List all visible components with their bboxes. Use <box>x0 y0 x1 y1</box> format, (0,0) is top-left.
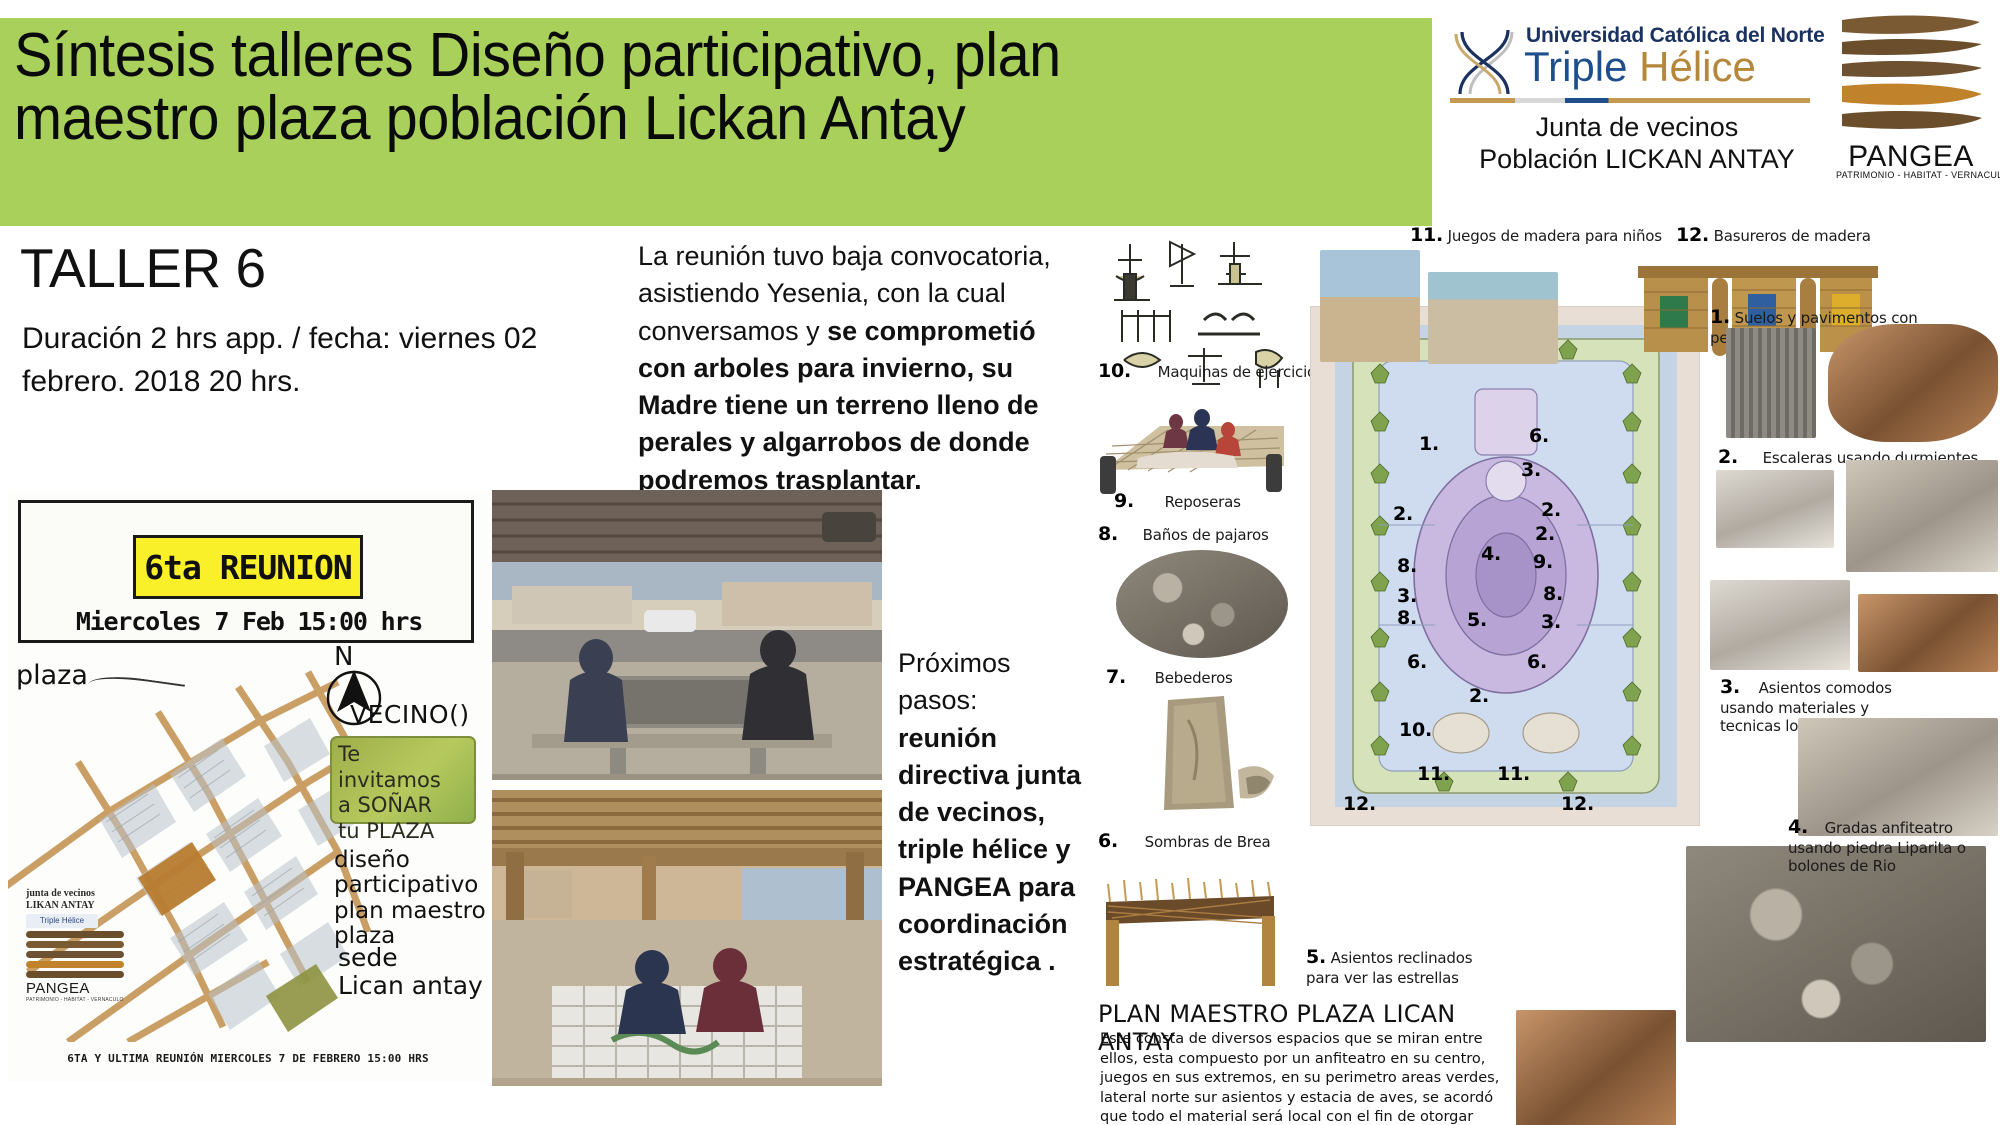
flyer-label-north: N <box>334 642 353 672</box>
flyer-pangea-bar-1 <box>26 931 124 938</box>
flyer-logo-junta-line-1: junta de vecinos <box>26 888 124 900</box>
montage-item-3-number: 3. <box>1720 676 1740 698</box>
flyer-invitation-box: Te invitamos a SOÑAR tu PLAZA <box>330 736 476 824</box>
montage-item-1-number: 1. <box>1710 306 1730 328</box>
sombra-brea-photo <box>1098 874 1288 990</box>
flyer-logo-pangea: PANGEA <box>26 980 124 997</box>
slide-root: Síntesis talleres Diseño participativo, … <box>0 0 2000 1125</box>
photo-workshop-ramada-plan <box>492 790 882 1086</box>
junta-vecinos-block: Junta de vecinos Población LICKAN ANTAY <box>1442 112 1832 176</box>
plan-number-6c: 6. <box>1527 651 1547 674</box>
plan-number-4: 4. <box>1481 543 1501 566</box>
workshop-title: TALLER 6 <box>20 236 266 300</box>
flyer-sede-line-1: sede <box>338 944 483 972</box>
pangea-wordmark: PANGEA <box>1836 140 1986 174</box>
ucn-word-triple: Triple <box>1524 43 1639 90</box>
plan-number-3b: 3. <box>1397 585 1417 608</box>
flyer-project-label: diseño participativo plan maestro plaza <box>334 848 486 949</box>
pangea-strata-icon <box>1836 12 1986 142</box>
montage-item-11: 11. Juegos de madera para niños <box>1410 224 1662 247</box>
montage-item-5-text: Asientos reclinados para ver las estrell… <box>1306 949 1472 987</box>
bird-bath-photo <box>1116 550 1288 658</box>
montage-item-7: 7. Bebederos <box>1106 666 1233 689</box>
flyer-invite-line-2: a SOÑAR <box>338 793 468 819</box>
montage-item-12-text: Basureros de madera <box>1714 227 1871 245</box>
slide-title-line-1: Síntesis talleres Diseño participativo, … <box>14 24 1320 87</box>
flyer-label-vecino-text: VECINO <box>350 700 449 729</box>
flyer-pangea-bar-5 <box>26 971 124 978</box>
plan-number-6a: 6. <box>1529 425 1549 448</box>
helix-icon <box>1450 24 1520 98</box>
flyer-logo-stack: junta de vecinos LIKAN ANTAY Triple Héli… <box>26 888 124 1003</box>
montage-item-9-number: 9. <box>1114 490 1134 512</box>
plan-number-10: 10. <box>1399 719 1432 742</box>
plan-number-8b: 8. <box>1543 583 1563 606</box>
plan-number-5: 5. <box>1467 609 1487 632</box>
flyer-pangea-bar-2 <box>26 941 124 948</box>
montage-item-8-number: 8. <box>1098 523 1118 545</box>
flyer-logo-pangea-sub: PATRIMONIO - HABITAT - VERNACULO <box>26 997 124 1003</box>
pangea-tagline: PATRIMONIO - HABITAT - VERNACULO <box>1836 170 1986 180</box>
next-steps-label: Próximos pasos: <box>898 648 1011 715</box>
montage-item-7-number: 7. <box>1106 666 1126 688</box>
montage-item-6: 6. Sombras de Brea <box>1098 830 1270 853</box>
montage-item-11-number: 11. <box>1410 224 1443 246</box>
muro-bolones-photo <box>1686 846 1986 1042</box>
exercise-machines-icons <box>1108 234 1308 346</box>
plan-number-2: 2. <box>1535 523 1555 546</box>
pangea-logo: PANGEA PATRIMONIO - HABITAT - VERNACULO <box>1836 12 1986 182</box>
plan-number-11b: 11. <box>1497 763 1530 786</box>
plan-number-7c: 2. <box>1469 685 1489 708</box>
ucn-triple-helice-wordmark: Triple Hélice <box>1524 46 1756 88</box>
flyer-logo-junta-line-2: LIKAN ANTAY <box>26 900 124 912</box>
photo-1-graphic <box>492 490 882 780</box>
slide-title-line-2: maestro plaza población Lickan Antay <box>14 87 1320 150</box>
montage-item-5: 5. Asientos reclinados para ver las estr… <box>1306 946 1506 987</box>
plan-number-1: 1. <box>1419 433 1439 456</box>
header-logos: Universidad Católica del Norte Triple Hé… <box>1432 0 2000 228</box>
montage-item-12-number: 12. <box>1676 224 1709 246</box>
slide-title-band: Síntesis talleres Diseño participativo, … <box>0 18 1432 226</box>
flyer-project-line-1: diseño <box>334 848 486 873</box>
master-plan-description: Este consta de diversos espacios que se … <box>1100 1030 1500 1125</box>
escalera-piedra-photo <box>1846 460 1998 572</box>
workshop-subtitle: Duración 2 hrs app. / fecha: viernes 02 … <box>22 318 632 403</box>
photo-workshop-table-outdoor <box>492 490 882 780</box>
escaleras-durmientes-photo <box>1716 470 1834 548</box>
meeting-notes: La reunión tuvo baja convocatoria, asist… <box>638 238 1083 499</box>
montage-item-4-number: 4. <box>1788 816 1808 838</box>
flyer-badge-label: 6ta REUNION <box>144 548 352 587</box>
flyer-invite-line-1: Te invitamos <box>338 742 468 793</box>
flyer-invite-line-3: tu PLAZA <box>338 819 468 845</box>
plan-number-11a: 11. <box>1417 763 1450 786</box>
junta-line-2: Población LICKAN ANTAY <box>1442 144 1832 176</box>
swing-set-photo <box>1428 272 1558 364</box>
montage-item-8: 8. Baños de pajaros <box>1098 523 1269 546</box>
playhouse-photo <box>1320 250 1420 362</box>
flyer-footer: 6TA Y ULTIMA REUNIÓN MIERCOLES 7 DE FEBR… <box>8 1052 488 1065</box>
master-plan-drawing-inner <box>1335 325 1677 807</box>
junta-line-1: Junta de vecinos <box>1442 112 1832 144</box>
plan-number-7a: 2. <box>1393 503 1413 526</box>
plan-number-12c: 12. <box>1561 793 1594 816</box>
montage-item-4: 4. Gradas anfiteatro usando piedra Lipar… <box>1788 816 1988 875</box>
reposeras-photo <box>1098 396 1288 496</box>
plan-number-6b: 6. <box>1407 651 1427 674</box>
meeting-flyer: 6ta REUNION Miercoles 7 Feb 15:00 hrs <box>8 492 488 1082</box>
flyer-label-vecino: VECINO() <box>350 700 470 729</box>
flyer-header-box: 6ta REUNION Miercoles 7 Feb 15:00 hrs <box>18 500 474 643</box>
flyer-pangea-bar-4 <box>26 961 124 968</box>
master-plan-montage: 11. Juegos de madera para niños 12. Basu… <box>1098 228 2000 1125</box>
flyer-logo-triple-helice: Triple Hélice <box>26 914 98 928</box>
montage-item-8-text: Baños de pajaros <box>1143 526 1269 544</box>
montage-item-10-number: 10. <box>1098 360 1131 382</box>
plan-number-3a: 3. <box>1521 459 1541 482</box>
suelo-pertinencia-photo <box>1828 324 1998 442</box>
pavimento-aerial-photo <box>1726 328 1816 438</box>
flyer-badge: 6ta REUNION <box>133 535 363 599</box>
montage-item-9-text: Reposeras <box>1165 493 1241 511</box>
montage-item-11-text: Juegos de madera para niños <box>1448 227 1662 245</box>
plan-number-9: 9. <box>1533 551 1553 574</box>
flyer-sede-label: sede Lican antay <box>338 944 483 1000</box>
asiento-tierra-photo <box>1858 594 1998 672</box>
montage-item-2-number: 2. <box>1718 446 1738 468</box>
flyer-sede-line-2: Lican antay <box>338 972 483 1000</box>
montage-item-6-text: Sombras de Brea <box>1145 833 1271 851</box>
plan-number-7b: 2. <box>1541 499 1561 522</box>
plan-number-8a: 8. <box>1397 555 1417 578</box>
flyer-date: Miercoles 7 Feb 15:00 hrs <box>21 607 477 636</box>
next-steps: Próximos pasos: reunión directiva junta … <box>898 645 1083 980</box>
montage-item-9: 9. Reposeras <box>1114 490 1241 513</box>
anfiteatro-referencia-photo <box>1516 1010 1676 1125</box>
montage-item-7-text: Bebederos <box>1155 669 1233 687</box>
montage-item-4-text: Gradas anfiteatro usando piedra Liparita… <box>1788 819 1966 875</box>
montage-item-5-number: 5. <box>1306 946 1326 968</box>
montage-item-12: 12. Basureros de madera <box>1676 224 1871 247</box>
plan-number-8c: 8. <box>1397 607 1417 630</box>
master-plan-svg <box>1335 325 1677 807</box>
next-steps-bold: reunión directiva junta de vecinos, trip… <box>898 723 1081 977</box>
flyer-label-plaza: plaza <box>16 660 88 691</box>
flyer-logo-junta: junta de vecinos LIKAN ANTAY <box>26 888 124 911</box>
asientos-madera-photo <box>1710 580 1850 670</box>
photo-2-graphic <box>492 790 882 1086</box>
master-plan-drawing: 12. 1. 6. 2. 3. 2. 2. 8. 3. 4. 9. 8. 8. … <box>1310 306 1700 826</box>
plan-number-3c: 3. <box>1541 611 1561 634</box>
flyer-project-line-3: plan maestro <box>334 899 486 924</box>
ucn-rule <box>1450 98 1810 103</box>
ucn-triple-helice-logo: Universidad Católica del Norte Triple Hé… <box>1450 18 1810 108</box>
plan-number-12b: 12. <box>1343 793 1376 816</box>
ucn-word-helice: Hélice <box>1639 43 1756 90</box>
flyer-pangea-bar-3 <box>26 951 124 958</box>
montage-item-6-number: 6. <box>1098 830 1118 852</box>
flyer-project-line-2: participativo <box>334 873 486 898</box>
bebedero-stone-photo <box>1138 690 1288 820</box>
